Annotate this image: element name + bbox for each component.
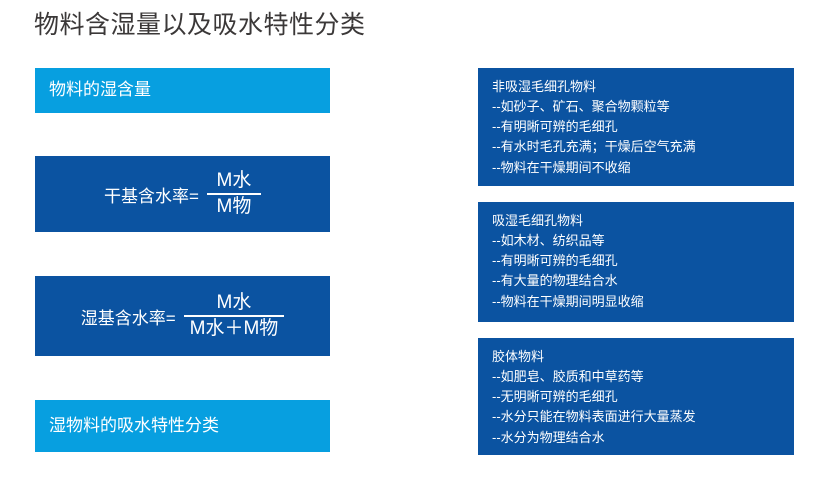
wet-basis-formula-lhs: 湿基含水率=	[81, 304, 178, 329]
colloidal-material-item: --无明晰可辨的毛细孔	[492, 387, 794, 407]
hygroscopic-material-item: --物料在干燥期间明显收缩	[492, 292, 794, 312]
hygroscopic-material-item: --如木材、纺织品等	[492, 231, 794, 251]
moisture-content-heading-box: 物料的湿含量	[35, 68, 330, 113]
page-title: 物料含湿量以及吸水特性分类	[34, 10, 366, 41]
hygroscopic-material-box: 吸湿毛细孔物料 --如木材、纺织品等 --有明晰可辨的毛细孔 --有大量的物理结…	[478, 202, 794, 322]
wet-basis-formula: 湿基含水率= M水 M水＋M物	[35, 276, 330, 356]
colloidal-material-item: --水分只能在物料表面进行大量蒸发	[492, 407, 794, 427]
nonhygroscopic-material-title: 非吸湿毛细孔物料	[492, 77, 794, 97]
moisture-content-heading-label: 物料的湿含量	[49, 80, 151, 100]
colloidal-material-box: 胶体物料 --如肥皂、胶质和中草药等 --无明晰可辨的毛细孔 --水分只能在物料…	[478, 338, 794, 455]
dry-basis-formula-lhs: 干基含水率=	[104, 182, 201, 207]
hygroscopic-material-title: 吸湿毛细孔物料	[492, 211, 794, 231]
wet-basis-formula-box: 湿基含水率= M水 M水＋M物	[35, 276, 330, 356]
dry-basis-numerator: M水	[211, 170, 258, 193]
dry-basis-formula-box: 干基含水率= M水 M物	[35, 156, 330, 232]
classification-heading-box: 湿物料的吸水特性分类	[35, 400, 330, 452]
dry-basis-formula: 干基含水率= M水 M物	[35, 156, 330, 232]
wet-basis-fraction: M水 M水＋M物	[184, 292, 285, 340]
colloidal-material-item: --水分为物理结合水	[492, 428, 794, 448]
nonhygroscopic-material-item: --有明晰可辨的毛细孔	[492, 117, 794, 137]
nonhygroscopic-material-box: 非吸湿毛细孔物料 --如砂子、矿石、聚合物颗粒等 --有明晰可辨的毛细孔 --有…	[478, 68, 794, 186]
nonhygroscopic-material-item: --物料在干燥期间不收缩	[492, 158, 794, 178]
nonhygroscopic-material-item: --有水时毛孔充满；干燥后空气充满	[492, 137, 794, 157]
hygroscopic-material-item: --有大量的物理结合水	[492, 271, 794, 291]
hygroscopic-material-item: --有明晰可辨的毛细孔	[492, 251, 794, 271]
colloidal-material-item: --如肥皂、胶质和中草药等	[492, 367, 794, 387]
dry-basis-denominator: M物	[211, 195, 258, 218]
classification-heading-label: 湿物料的吸水特性分类	[49, 416, 219, 436]
nonhygroscopic-material-item: --如砂子、矿石、聚合物颗粒等	[492, 97, 794, 117]
dry-basis-fraction: M水 M物	[207, 170, 261, 218]
slide-canvas: 物料含湿量以及吸水特性分类 物料的湿含量 干基含水率= M水 M物 湿基含水率=…	[0, 0, 819, 494]
wet-basis-numerator: M水	[211, 292, 258, 315]
colloidal-material-title: 胶体物料	[492, 347, 794, 367]
wet-basis-denominator: M水＋M物	[184, 317, 285, 340]
